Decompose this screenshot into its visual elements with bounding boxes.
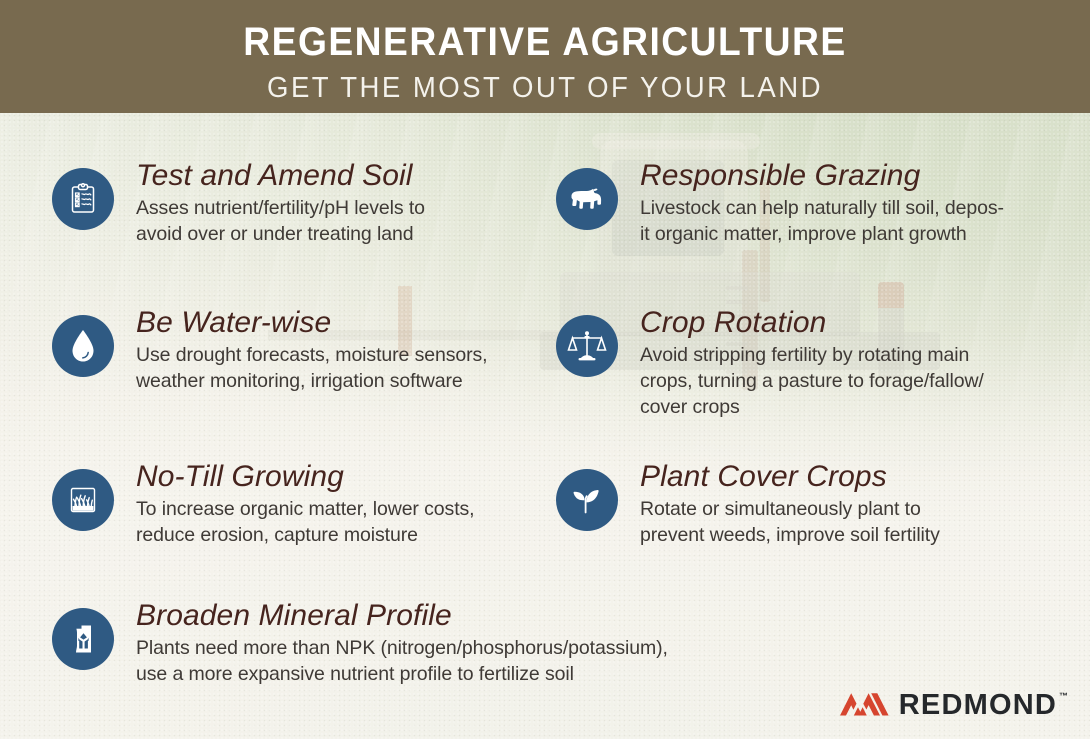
icon-badge [556, 168, 618, 230]
item-title: Be Water-wise [136, 307, 488, 339]
redmond-mountain-icon [840, 689, 890, 721]
clipboard-checklist-icon [64, 180, 102, 218]
item-body-line: Use drought forecasts, moisture sensors, [136, 343, 488, 369]
list-item: Crop Rotation Avoid stripping fertility … [556, 307, 984, 421]
item-copy: Responsible Grazing Livestock can help n… [640, 160, 1004, 248]
item-body: Plants need more than NPK (nitrogen/phos… [136, 636, 668, 688]
item-copy: Broaden Mineral Profile Plants need more… [136, 600, 668, 688]
list-item: Test and Amend Soil Asses nutrient/ferti… [52, 160, 425, 248]
item-title: Responsible Grazing [640, 160, 1004, 192]
item-body: Avoid stripping fertility by rotating ma… [640, 343, 984, 421]
list-item: No-Till Growing To increase organic matt… [52, 461, 474, 549]
redmond-wordmark: REDMOND [899, 691, 1057, 720]
item-body-line: weather monitoring, irrigation software [136, 369, 488, 395]
item-copy: Crop Rotation Avoid stripping fertility … [640, 307, 984, 421]
item-body-line: use a more expansive nutrient profile to… [136, 662, 668, 688]
grass-soil-icon [64, 481, 102, 519]
item-body-line: Plants need more than NPK (nitrogen/phos… [136, 636, 668, 662]
infographic-poster: REGENERATIVE AGRICULTURE GET THE MOST OU… [0, 0, 1090, 739]
icon-badge [556, 315, 618, 377]
item-copy: Be Water-wise Use drought forecasts, moi… [136, 307, 488, 395]
item-body-line: avoid over or under treating land [136, 222, 425, 248]
icon-badge [52, 315, 114, 377]
item-body-line: reduce erosion, capture moisture [136, 523, 474, 549]
item-body: Rotate or simultaneously plant to preven… [640, 497, 940, 549]
list-item: Be Water-wise Use drought forecasts, moi… [52, 307, 488, 395]
item-body-line: To increase organic matter, lower costs, [136, 497, 474, 523]
item-body: Livestock can help naturally till soil, … [640, 196, 1004, 248]
icon-badge [52, 608, 114, 670]
item-body-line: cover crops [640, 395, 984, 421]
item-body-line: Livestock can help naturally till soil, … [640, 196, 1004, 222]
sprout-leaves-icon [568, 481, 606, 519]
trademark-symbol: ™ [1059, 691, 1068, 701]
item-title: No-Till Growing [136, 461, 474, 493]
balance-scale-icon [567, 327, 607, 365]
item-body: Asses nutrient/fertility/pH levels to av… [136, 196, 425, 248]
list-item: Plant Cover Crops Rotate or simultaneous… [556, 461, 940, 549]
tips-list: Test and Amend Soil Asses nutrient/ferti… [0, 0, 1090, 739]
icon-badge [52, 168, 114, 230]
list-item: Responsible Grazing Livestock can help n… [556, 160, 1004, 248]
item-body-line: Asses nutrient/fertility/pH levels to [136, 196, 425, 222]
mineral-bag-icon [65, 620, 101, 658]
item-body-line: crops, turning a pasture to forage/fallo… [640, 369, 984, 395]
item-copy: No-Till Growing To increase organic matt… [136, 461, 474, 549]
icon-badge [556, 469, 618, 531]
item-body-line: prevent weeds, improve soil fertility [640, 523, 940, 549]
item-title: Plant Cover Crops [640, 461, 940, 493]
item-body-line: it organic matter, improve plant growth [640, 222, 1004, 248]
item-title: Crop Rotation [640, 307, 984, 339]
item-title: Broaden Mineral Profile [136, 600, 668, 632]
list-item: Broaden Mineral Profile Plants need more… [52, 600, 668, 688]
item-body: To increase organic matter, lower costs,… [136, 497, 474, 549]
item-copy: Plant Cover Crops Rotate or simultaneous… [640, 461, 940, 549]
icon-badge [52, 469, 114, 531]
cow-icon [567, 183, 607, 215]
item-copy: Test and Amend Soil Asses nutrient/ferti… [136, 160, 425, 248]
item-body: Use drought forecasts, moisture sensors,… [136, 343, 488, 395]
redmond-logo[interactable]: REDMOND ™ [840, 689, 1068, 721]
item-body-line: Avoid stripping fertility by rotating ma… [640, 343, 984, 369]
item-title: Test and Amend Soil [136, 160, 425, 192]
water-drop-icon [66, 327, 100, 365]
item-body-line: Rotate or simultaneously plant to [640, 497, 940, 523]
